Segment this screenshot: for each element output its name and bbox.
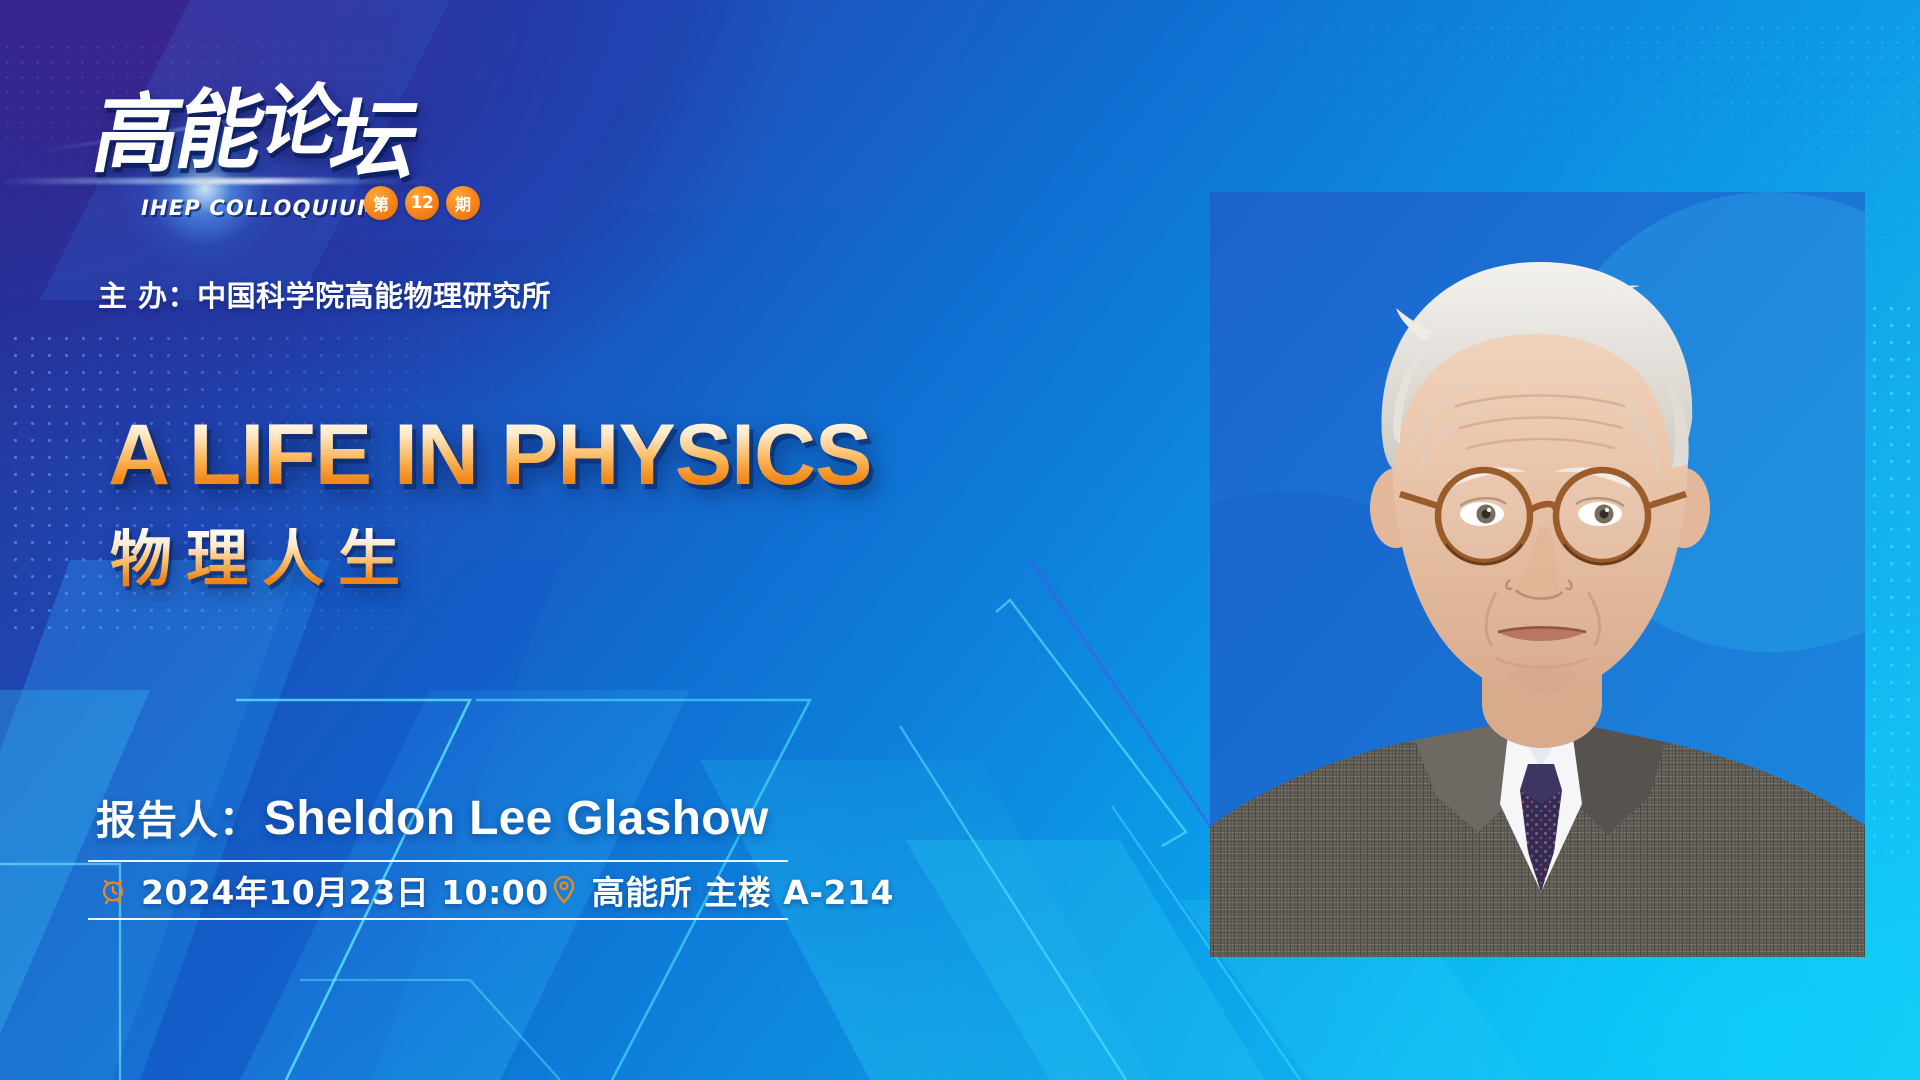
logo-block: 高能论坛 IHEP COLLOQUIUM <box>95 92 575 232</box>
speaker-portrait <box>1210 192 1865 957</box>
logo-wordmark-en: IHEP COLLOQUIUM <box>141 196 379 220</box>
issue-number-badges: 第 12 期 <box>364 186 480 220</box>
issue-badge-suffix: 期 <box>446 186 480 220</box>
speaker-row: 报告人： Sheldon Lee Glashow <box>96 788 768 846</box>
speaker-portrait-frame <box>1210 192 1865 957</box>
speaker-name: Sheldon Lee Glashow <box>264 791 768 846</box>
logo-wordmark-cn: 高能论坛 <box>87 92 584 178</box>
event-venue-text: 高能所 主楼 A-214 <box>592 866 894 914</box>
speaker-label: 报告人： <box>96 788 260 846</box>
meta-rule-bottom <box>88 918 788 920</box>
meta-datetime: 2024年10月23日 10:00 <box>98 866 549 914</box>
event-datetime-text: 2024年10月23日 10:00 <box>141 866 549 914</box>
issue-badge-number: 12 <box>405 186 439 220</box>
alarm-clock-icon <box>98 875 128 905</box>
organizer-line: 主 办：中国科学院高能物理研究所 <box>98 273 551 315</box>
meta-row: 2024年10月23日 10:00 高能所 主楼 A-214 <box>88 862 788 918</box>
title-chinese: 物理人生 <box>110 528 414 590</box>
portrait-illustration <box>1210 192 1865 957</box>
location-pin-icon <box>549 874 579 906</box>
poster-canvas: 高能论坛 IHEP COLLOQUIUM 第 12 期 主 办：中国科学院高能物… <box>0 0 1920 1080</box>
issue-badge-prefix: 第 <box>364 186 398 220</box>
event-meta-block: 2024年10月23日 10:00 高能所 主楼 A-214 <box>88 860 788 920</box>
title-english: A LIFE IN PHYSICS <box>108 412 871 498</box>
meta-venue: 高能所 主楼 A-214 <box>549 866 894 914</box>
